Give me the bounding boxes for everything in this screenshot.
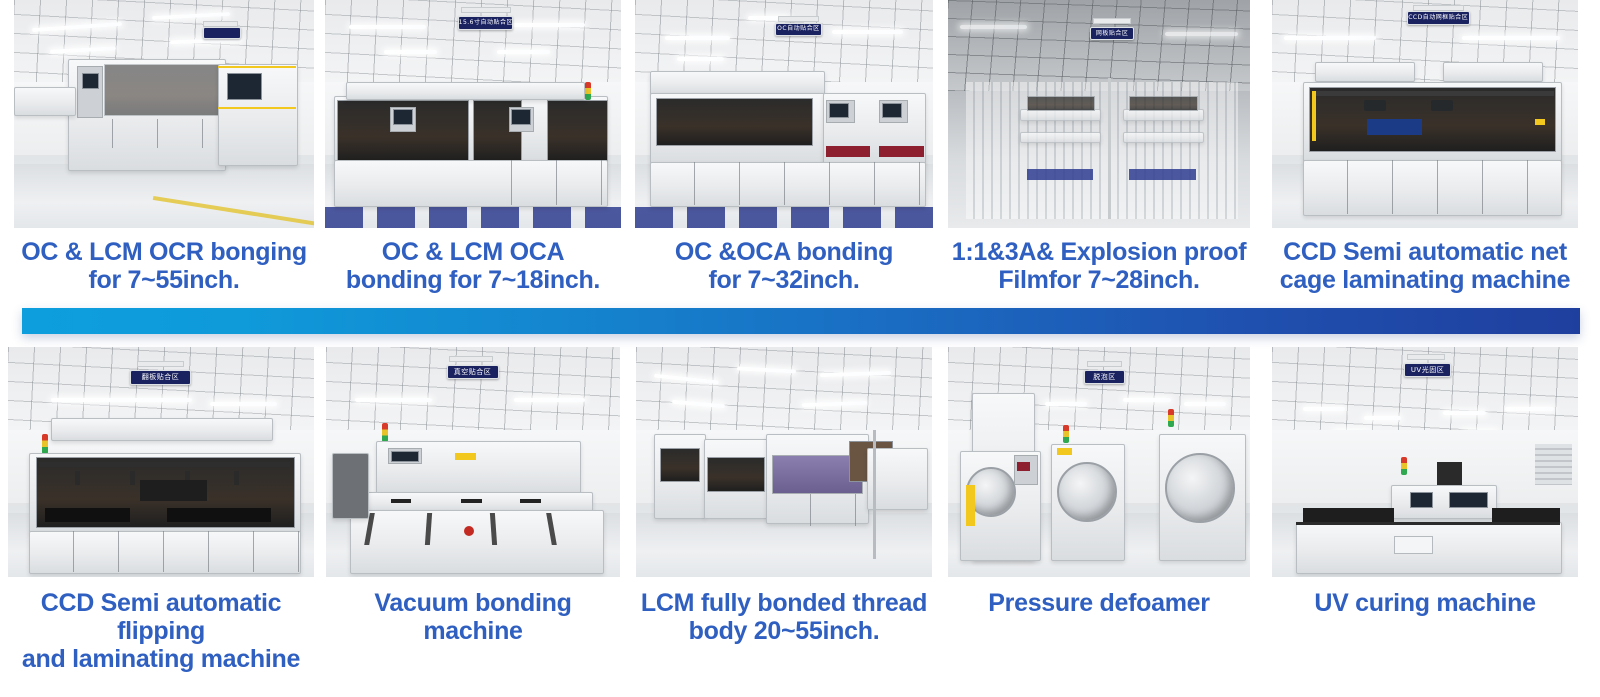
caption-ccd-net-cage: CCD Semi automatic net cage laminating m… <box>1280 238 1570 294</box>
caption-line: UV curing machine <box>1314 589 1535 617</box>
top-row: OC & LCM OCR bonging for 7~55inch. 15.6寸… <box>0 0 1600 335</box>
gallery-item-vacuum-bonding[interactable]: 真空贴合区 <box>318 347 628 687</box>
caption-line: OC & LCM OCA <box>346 238 600 266</box>
gallery-item-explosion-proof-film[interactable]: 网板贴合区 1:1&3A& Explosion proof Filmfor 7~… <box>940 0 1258 335</box>
caption-oca-bonding-32: OC &OCA bonding for 7~32inch. <box>675 238 893 294</box>
gallery-item-pressure-defoamer[interactable]: 脱泡区 Pressure defoamer <box>940 347 1258 687</box>
caption-line: 1:1&3A& Explosion proof <box>952 238 1247 266</box>
gallery-item-ccd-net-cage[interactable]: CCD自动网框贴合区 CCD Semi automatic net <box>1258 0 1600 335</box>
caption-line: bonding for 7~18inch. <box>346 266 600 294</box>
caption-line: Vacuum bonding <box>374 589 571 617</box>
gallery-item-ccd-flipping[interactable]: 翻板贴合区 CCD Semi <box>0 347 318 687</box>
gallery-item-ocr-bonding[interactable]: OC & LCM OCR bonging for 7~55inch. <box>0 0 318 335</box>
caption-vacuum-bonding: Vacuum bonding machine <box>374 589 571 645</box>
gallery-item-uv-curing[interactable]: UV光固区 UV curing machine <box>1258 347 1600 687</box>
bottom-row: 翻板贴合区 CCD Semi <box>0 347 1600 687</box>
caption-uv-curing: UV curing machine <box>1314 589 1535 617</box>
caption-ocr-bonding: OC & LCM OCR bonging for 7~55inch. <box>21 238 307 294</box>
area-sign: 15.6寸自动贴合区 <box>458 16 513 30</box>
caption-explosion-proof-film: 1:1&3A& Explosion proof Filmfor 7~28inch… <box>952 238 1247 294</box>
gallery-item-oca-bonding-18[interactable]: 15.6寸自动贴合区 OC & LCM OCA bondi <box>318 0 628 335</box>
caption-line: CCD Semi automatic flipping <box>4 589 318 645</box>
photo-oca-bonding-18: 15.6寸自动贴合区 <box>325 0 621 228</box>
caption-line: Pressure defoamer <box>988 589 1209 617</box>
photo-oca-bonding-32: OC自动贴合区 <box>635 0 933 228</box>
gradient-divider-bar <box>22 308 1580 334</box>
area-sign: CCD自动网框贴合区 <box>1407 11 1470 25</box>
area-sign: 脱泡区 <box>1084 370 1125 384</box>
caption-line: OC & LCM OCR bonging <box>21 238 307 266</box>
caption-line: and laminating machine <box>4 645 318 673</box>
area-sign: 网板贴合区 <box>1090 27 1134 40</box>
caption-line: body 20~55inch. <box>641 617 927 645</box>
caption-line: CCD Semi automatic net <box>1280 238 1570 266</box>
caption-line: for 7~55inch. <box>21 266 307 294</box>
caption-line: LCM fully bonded thread <box>641 589 927 617</box>
photo-ocr-bonding <box>14 0 314 228</box>
area-sign: 翻板贴合区 <box>130 370 190 385</box>
equipment-gallery-page: OC & LCM OCR bonging for 7~55inch. 15.6寸… <box>0 0 1600 697</box>
caption-line: for 7~32inch. <box>675 266 893 294</box>
photo-vacuum-bonding: 真空贴合区 <box>326 347 620 577</box>
area-sign <box>203 27 241 39</box>
photo-lcm-thread-body <box>636 347 932 577</box>
area-sign: OC自动贴合区 <box>775 23 822 36</box>
area-sign: UV光固区 <box>1404 363 1452 377</box>
photo-ccd-net-cage: CCD自动网框贴合区 <box>1272 0 1578 228</box>
gallery-item-lcm-thread-body[interactable]: LCM fully bonded thread body 20~55inch. <box>628 347 940 687</box>
photo-ccd-flipping: 翻板贴合区 <box>8 347 314 577</box>
caption-line: Filmfor 7~28inch. <box>952 266 1247 294</box>
caption-oca-bonding-18: OC & LCM OCA bonding for 7~18inch. <box>346 238 600 294</box>
photo-explosion-proof-film: 网板贴合区 <box>948 0 1250 228</box>
caption-line: machine <box>374 617 571 645</box>
caption-line: cage laminating machine <box>1280 266 1570 294</box>
caption-lcm-thread-body: LCM fully bonded thread body 20~55inch. <box>641 589 927 645</box>
gallery-item-oca-bonding-32[interactable]: OC自动贴合区 OC &OCA bonding for 7 <box>628 0 940 335</box>
divider-wrap <box>0 308 1600 348</box>
photo-pressure-defoamer: 脱泡区 <box>948 347 1250 577</box>
caption-ccd-flipping: CCD Semi automatic flipping and laminati… <box>4 589 318 673</box>
caption-line: OC &OCA bonding <box>675 238 893 266</box>
caption-pressure-defoamer: Pressure defoamer <box>988 589 1209 617</box>
area-sign: 真空贴合区 <box>447 365 499 379</box>
photo-uv-curing: UV光固区 <box>1272 347 1578 577</box>
